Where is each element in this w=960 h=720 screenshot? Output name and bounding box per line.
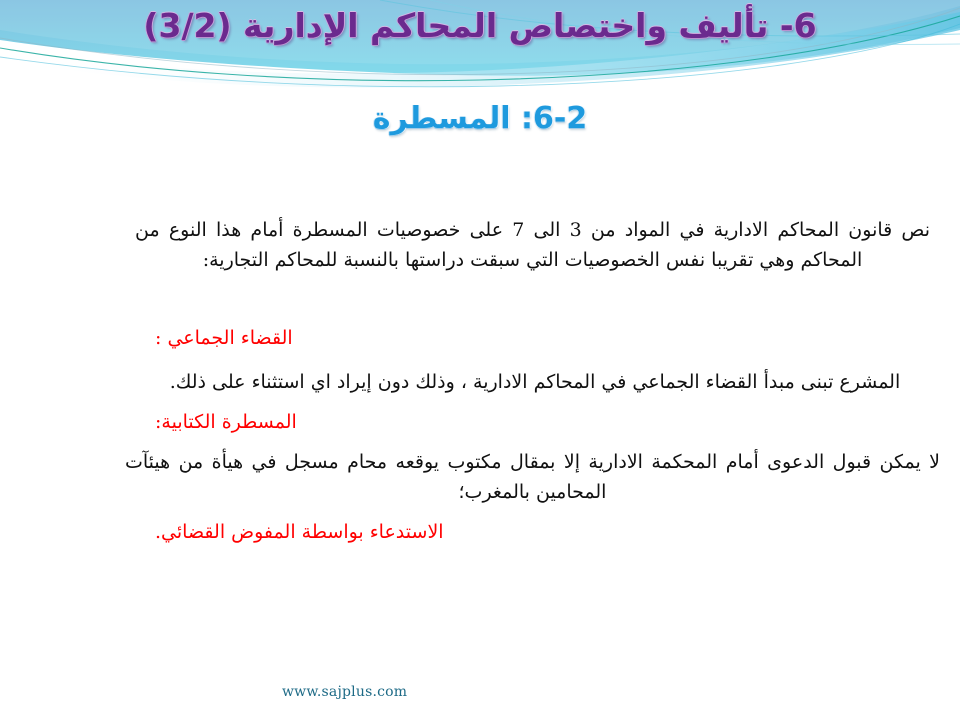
paragraph-written-procedure: لا يمكن قبول الدعوى أمام المحكمة الاداري… (125, 447, 940, 507)
heading-written-procedure: المسطرة الكتابية: (155, 407, 960, 437)
page-title: 6- تأليف واختصاص المحاكم الإدارية (3/2) (0, 2, 960, 50)
paragraph-intro: نص قانون المحاكم الادارية في المواد من 3… (135, 215, 930, 275)
website-url[interactable]: www.sajplus.com (282, 684, 407, 700)
heading-summons-by-bailiff: الاستدعاء بواسطة المفوض القضائي. (155, 517, 960, 547)
heading-collegial-justice: القضاء الجماعي : (155, 323, 960, 353)
paragraph-collegial-justice: المشرع تبنى مبدأ القضاء الجماعي في المحا… (140, 367, 930, 397)
section-subtitle: 6-2: المسطرة (0, 96, 960, 142)
